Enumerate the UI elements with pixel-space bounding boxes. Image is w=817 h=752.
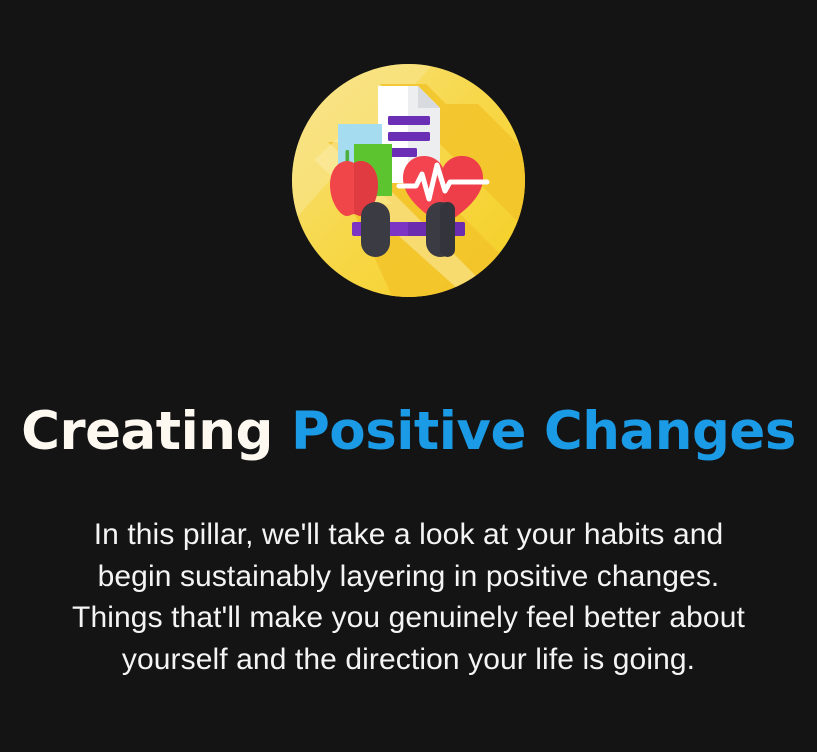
body-paragraph: In this pillar, we'll take a look at you… [58,514,759,680]
slide-container: Creating Positive Changes In this pillar… [0,0,817,752]
page-title-part-one: Creating [21,401,291,462]
page-title-part-two: Positive Changes [291,401,796,462]
page-title: Creating Positive Changes [0,404,817,460]
hero-icon-badge [292,64,525,297]
